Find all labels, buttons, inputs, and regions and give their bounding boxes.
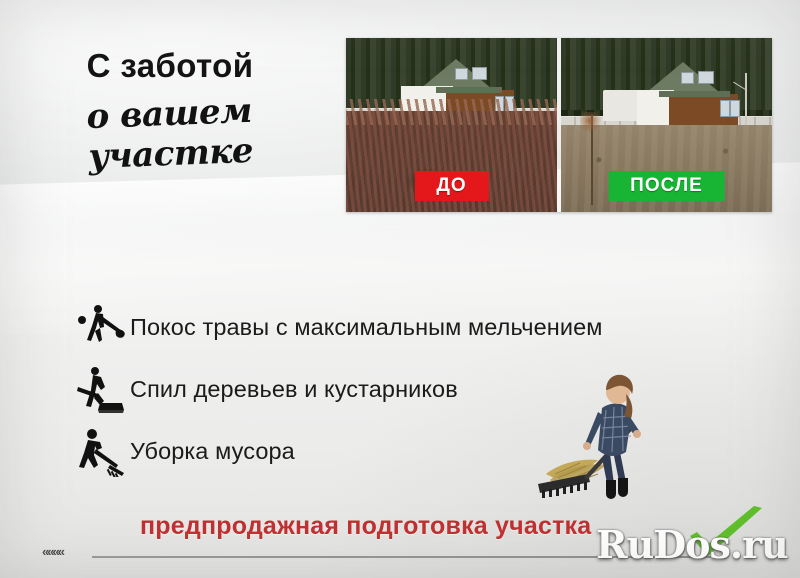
trimmer-worker-icon: [74, 301, 126, 353]
service-label: Спил деревьев и кустарников: [130, 376, 458, 403]
headline-block: С заботой о вашем участке: [0, 48, 340, 174]
rake-worker-icon: [74, 425, 126, 477]
before-after-photo-strip: ДО ПОСЛЕ: [346, 38, 772, 212]
footer-tagline: предпродажная подготовка участка: [140, 512, 591, 541]
sapling: [591, 115, 593, 205]
service-label: Покос травы с максимальным мельчением: [130, 314, 603, 341]
headline-line-2-script: о вашем участке: [0, 88, 341, 181]
watermark: RuDos.ru: [596, 508, 786, 570]
service-label: Уборка мусора: [130, 438, 295, 465]
photo-before: ДО: [346, 38, 557, 212]
badge-after: ПОСЛЕ: [608, 171, 725, 201]
photo-after: ПОСЛЕ: [561, 38, 772, 212]
headline-line-1: С заботой: [0, 48, 340, 84]
house: [620, 62, 742, 125]
woman-raking-figure: [528, 362, 668, 512]
advertisement-poster: С заботой о вашем участке ДО: [0, 0, 800, 578]
list-item: Покос травы с максимальным мельчением: [74, 296, 754, 358]
badge-before: ДО: [414, 171, 488, 201]
watermark-text: RuDos.ru: [596, 526, 786, 564]
chevron-left-icon: ««««: [42, 544, 63, 559]
saw-worker-icon: [74, 363, 126, 415]
